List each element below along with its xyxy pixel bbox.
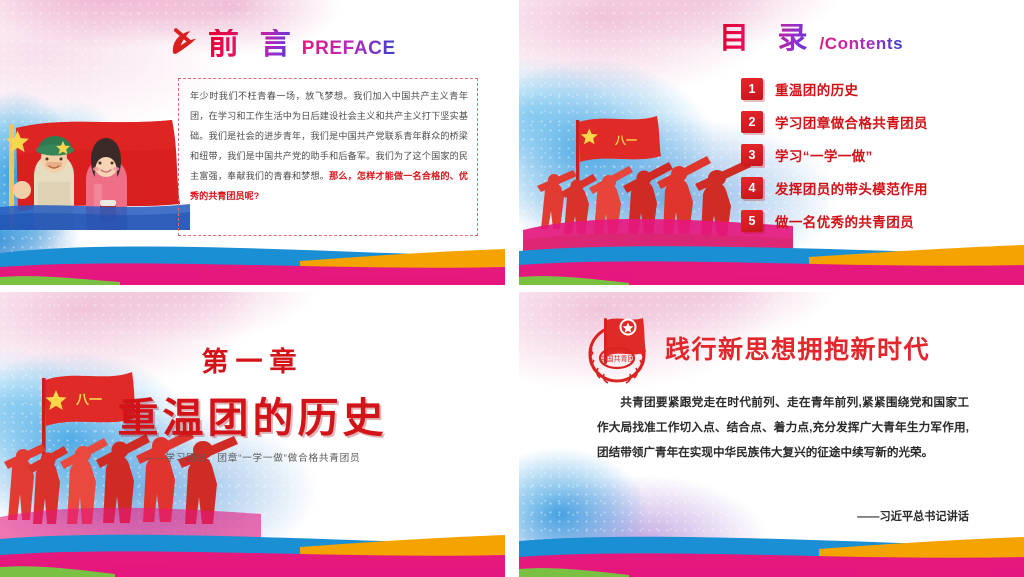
list-item[interactable]: 1 重温团的历史 <box>741 76 1001 101</box>
list-item-label: 学习团章做合格共青团员 <box>775 112 928 132</box>
chapter-label: 第一章 <box>0 340 505 379</box>
list-item-label: 发挥团员的带头模范作用 <box>775 178 928 198</box>
preface-title-cn: 前 言 <box>208 29 296 60</box>
list-item[interactable]: 4 发挥团员的带头模范作用 <box>741 175 1001 200</box>
preface-body-text: 年少时我们不枉青春一场，放飞梦想。我们加入中国共产主义青年团，在学习和工作生活中… <box>190 91 468 181</box>
contents-list: 1 重温团的历史 2 学习团章做合格共青团员 3 学习“一学一做” 4 发挥团员… <box>741 76 1001 241</box>
list-item[interactable]: 3 学习“一学一做” <box>741 142 1001 167</box>
list-item-number: 2 <box>741 111 763 133</box>
preface-title-en: PREFACE <box>302 39 396 60</box>
preface-heading: 前 言 PREFACE <box>168 26 396 60</box>
slide-contents[interactable]: 八一 <box>519 0 1024 285</box>
list-item-label: 重温团的历史 <box>775 79 858 99</box>
flag-illustration <box>0 112 190 230</box>
list-item-number: 1 <box>741 78 763 100</box>
contents-title-cn: 目 录 <box>719 24 816 54</box>
list-item-number: 3 <box>741 144 763 166</box>
slide-chapter-one[interactable]: 八一 <box>0 292 505 577</box>
party-hammer-sickle-icon <box>168 26 202 60</box>
chapter-subtitle: ——学习团史、团章“一学一做”做合格共青团员 <box>0 450 505 464</box>
quote-body: 共青团要紧跟党走在时代前列、走在青年前列,紧紧围绕党和国家工作大局找准工作切入点… <box>597 390 969 465</box>
list-item-number: 4 <box>741 177 763 199</box>
bottom-ribbon-decoration <box>519 519 1024 577</box>
contents-title-en: /Contents <box>819 35 903 54</box>
communist-youth-league-emblem-icon: 中国共青团 <box>581 314 653 386</box>
contents-heading: 目 录 /Contents <box>719 24 903 54</box>
bottom-ribbon-decoration <box>0 227 505 285</box>
chapter-heading: 重温团的历史 <box>0 384 505 444</box>
slide-deck-grid: 前 言 PREFACE 年少时我们不枉青春一场，放飞梦想。我们加入中国共产主义青… <box>0 0 1024 577</box>
bottom-ribbon-decoration <box>519 227 1024 285</box>
slide-new-era-quote[interactable]: 中国共青团 践行新思想拥抱新时代 共青团要紧跟党走在时代前列、走在青年前列,紧紧… <box>519 292 1024 577</box>
quote-body-text: 共青团要紧跟党走在时代前列、走在青年前列,紧紧围绕党和国家工作大局找准工作切入点… <box>597 390 969 465</box>
bottom-ribbon-decoration <box>0 519 505 577</box>
quote-slide-title: 践行新思想拥抱新时代 <box>665 330 930 366</box>
list-item[interactable]: 2 学习团章做合格共青团员 <box>741 109 1001 134</box>
preface-body: 年少时我们不枉青春一场，放飞梦想。我们加入中国共产主义青年团，在学习和工作生活中… <box>190 86 468 206</box>
list-item-label: 学习“一学一做” <box>775 145 873 165</box>
svg-text:八一: 八一 <box>614 134 637 147</box>
emblem-text: 中国共青团 <box>600 354 635 363</box>
slide-preface[interactable]: 前 言 PREFACE 年少时我们不枉青春一场，放飞梦想。我们加入中国共产主义青… <box>0 0 505 285</box>
